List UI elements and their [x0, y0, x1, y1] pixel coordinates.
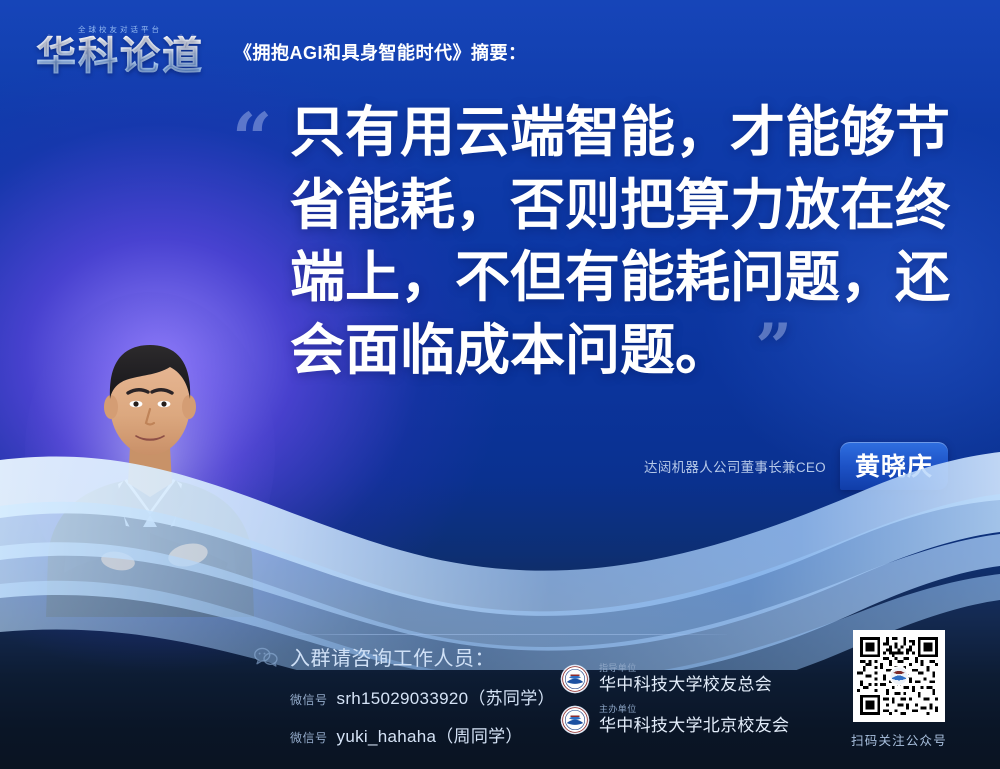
- contact-heading: 入群请咨询工作人员：: [290, 642, 495, 671]
- organization-texts: 主办单位 华中科技大学北京校友会: [599, 705, 789, 734]
- organizations: 指导单位 华中科技大学校友总会 主办单位 华中科技大学北京校友会: [560, 664, 789, 735]
- quote-close-mark: ”: [755, 316, 792, 380]
- attribution: 达闼机器人公司董事长兼CEO 黄晓庆: [644, 442, 948, 490]
- quote-block: “ 只有用云端智能，才能够节 省能耗，否则把算力放在终 端上，不但有能耗问题，还…: [232, 96, 948, 386]
- quote-line: 会面临成本问题。: [290, 318, 730, 382]
- quote-open-mark: “: [232, 104, 272, 174]
- organization-name: 华中科技大学北京校友会: [599, 717, 789, 735]
- header: 全球校友对话平台 华科论道 《拥抱AGI和具身智能时代》摘要：: [0, 0, 1000, 90]
- organization-row: 指导单位 华中科技大学校友总会: [560, 664, 789, 694]
- brand-logo[interactable]: 全球校友对话平台 华科论道: [24, 14, 216, 76]
- footer-divider: [287, 634, 727, 635]
- speaker-name-badge: 黄晓庆: [840, 442, 948, 490]
- organization-texts: 指导单位 华中科技大学校友总会: [599, 664, 772, 693]
- quote-line-wrapper: 会面临成本问题。”: [290, 314, 730, 387]
- quote-line: 省能耗，否则把算力放在终: [290, 169, 948, 242]
- quote-line: 端上，不但有能耗问题，还: [290, 241, 948, 314]
- qr-block: 扫码关注公众号: [835, 630, 963, 749]
- quote-text: 只有用云端智能，才能够节 省能耗，否则把算力放在终 端上，不但有能耗问题，还 会…: [290, 96, 948, 386]
- wechat-icon: [254, 647, 278, 667]
- wechat-label: 微信号: [290, 729, 328, 746]
- qr-code-image[interactable]: [853, 630, 945, 722]
- quote-line: 只有用云端智能，才能够节: [290, 96, 948, 169]
- university-seal-icon: [560, 664, 590, 694]
- page-title: 《拥抱AGI和具身智能时代》摘要：: [234, 39, 527, 65]
- wechat-label: 微信号: [290, 691, 328, 708]
- university-seal-icon: [560, 705, 590, 735]
- organization-name: 华中科技大学校友总会: [599, 676, 772, 694]
- logo-tagline: 全球校友对话平台: [78, 24, 162, 35]
- wechat-id[interactable]: srh15029033920（苏同学）: [337, 684, 555, 709]
- qr-caption: 扫码关注公众号: [851, 730, 947, 749]
- logo-wordmark: 华科论道: [36, 36, 204, 76]
- wechat-id[interactable]: yuki_hahaha（周同学）: [337, 722, 523, 747]
- poster-canvas: 全球校友对话平台 华科论道 《拥抱AGI和具身智能时代》摘要：: [0, 0, 1000, 769]
- speaker-role: 达闼机器人公司董事长兼CEO: [644, 456, 826, 476]
- organization-kind: 指导单位: [599, 664, 772, 673]
- organization-kind: 主办单位: [599, 705, 789, 714]
- organization-row: 主办单位 华中科技大学北京校友会: [560, 705, 789, 735]
